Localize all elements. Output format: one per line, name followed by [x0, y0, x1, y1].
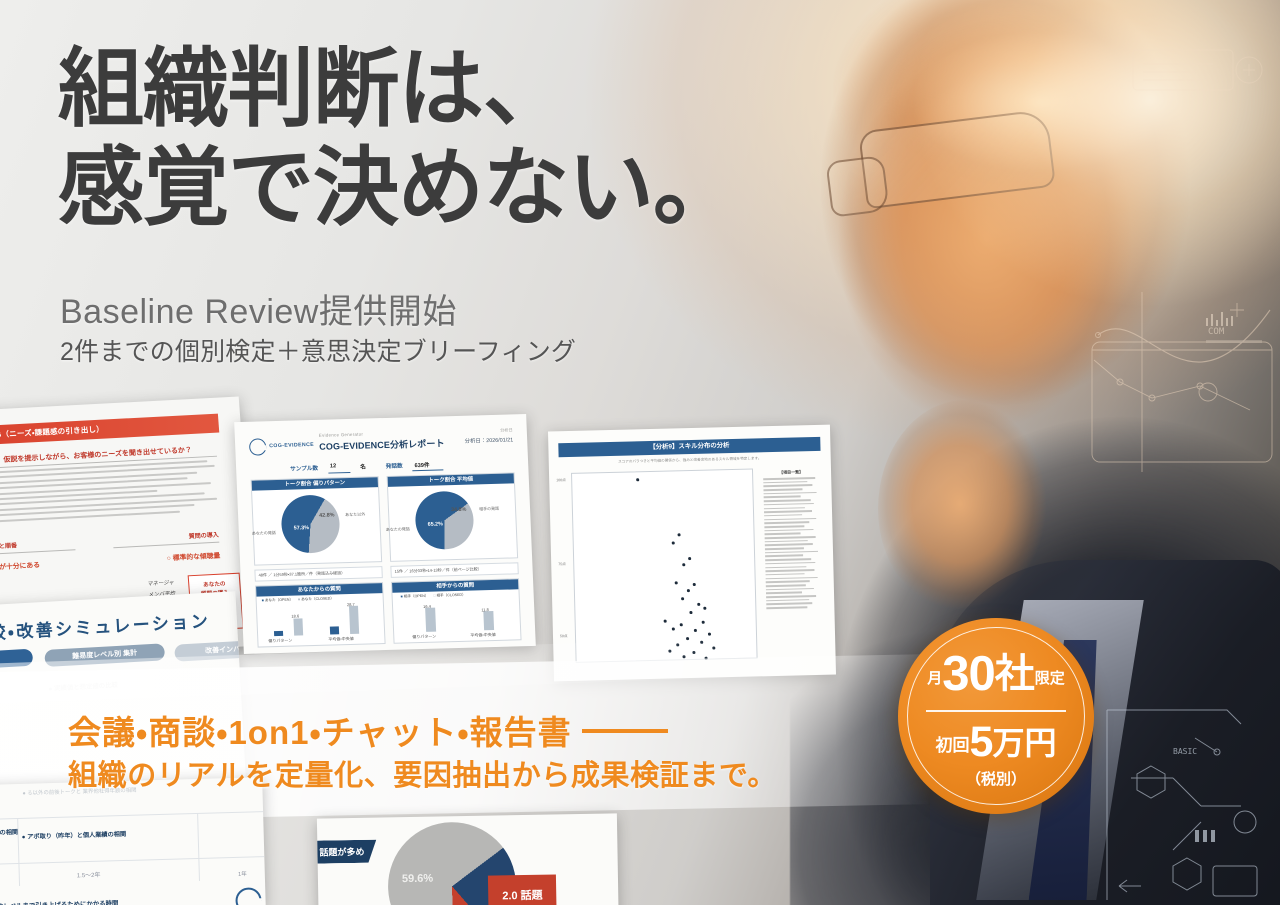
promo-dash: [582, 729, 668, 733]
report-meta: サンプル数12 名 発話数639件: [290, 459, 490, 475]
skill-item-list: 【項目一覧】: [763, 469, 822, 611]
promo-line1: 会議・商談・1on1・チャット・報告書: [68, 706, 668, 754]
table-footer: 対象とする集団を上位レベルまで引き上げるためにかかる時間: [0, 898, 118, 905]
badge-line-capacity: 月30社限定: [898, 650, 1094, 699]
badge-line-price: 初回5万円: [898, 721, 1094, 764]
hero-banner: COM BASIC: [0, 0, 1280, 905]
hearing-options: 数・種類が十分にある標準的な傾聴量: [0, 550, 221, 573]
report-panel4-title: 相手からの質問: [392, 579, 518, 593]
report-panel3-title: あなたからの質問: [256, 583, 382, 597]
badge-tax-note: （税別）: [898, 768, 1094, 789]
report-note-1: 48件 ／ 1分59秒・37.1箇所／件（発話込み経過）: [254, 566, 382, 582]
report-pie-2: [414, 491, 474, 551]
report-panel1-title: トーク割合 偏りパターン: [252, 477, 378, 491]
bottom-pie-label: 話題が多め: [317, 840, 377, 864]
headline-line1: 組織判断は、: [58, 44, 838, 135]
badge-divider: [926, 710, 1066, 712]
bottom-pie-percent: 59.6%: [402, 873, 433, 886]
hearing-banner: ：HEARING（ニーズ・課題感の引き出し）: [0, 414, 219, 447]
skill-subtitle: スコアのバラつきと平均値の関係から、強みと改善余地のあるスキル領域を特定します。: [565, 455, 815, 466]
doc-bottom-pie: 59.6% 話題が多め 2.0 話題: [317, 813, 619, 905]
table-value-1: 1.5〜2年: [77, 870, 101, 880]
table-logo-icon: [235, 887, 262, 905]
hero-subtitle: Baseline Review提供開始: [60, 284, 457, 333]
report-logo-text: COG-EVIDENCE: [269, 442, 314, 449]
bottom-pie-callout: 2.0 話題: [488, 874, 557, 905]
report-panel2-title: トーク割合 平均値: [388, 473, 514, 487]
hero-description: 2件までの個別検定＋意思決定ブリーフィング: [60, 332, 576, 368]
report-date-label: 分析日: [500, 427, 513, 433]
headline-line2: 感覚で決めない。: [58, 143, 838, 234]
report-pie-1: [280, 494, 340, 554]
limited-offer-badge: 月30社限定 初回5万円 （税別）: [898, 618, 1094, 814]
report-date: 分析日：2026/01/21: [464, 435, 513, 444]
roi-title: ROI比較・改善シミュレーション: [0, 607, 211, 648]
report-logo-icon: [249, 438, 267, 455]
table-value-2: 1年: [238, 870, 247, 878]
skill-scatter-plot: 100点 75点 50点: [571, 468, 758, 662]
report-note-2: 15件 ／ 16分03秒・14-13秒／件（前ページ比較）: [390, 562, 518, 578]
hearing-body-lines: [0, 460, 221, 527]
doc-report: COG-EVIDENCE Evidence Generator COG-EVID…: [234, 414, 536, 654]
hearing-columns: 質問の内容と順番質問の導入: [0, 530, 219, 552]
promo-line2: 組織のリアルを定量化、要因抽出から成果検証まで。: [68, 752, 777, 794]
doc-bottom-table: る以外の前後トークと 業界他社得年数の相関 クロージング商談 と個人業績の相関 …: [0, 777, 266, 905]
skill-title: 【分析9】スキル分布の分析: [558, 437, 820, 457]
page-title: 組織判断は、 感覚で決めない。: [58, 44, 838, 234]
report-title: COG-EVIDENCE分析レポート: [319, 436, 445, 452]
report-eyebrow: Evidence Generator: [319, 432, 364, 438]
